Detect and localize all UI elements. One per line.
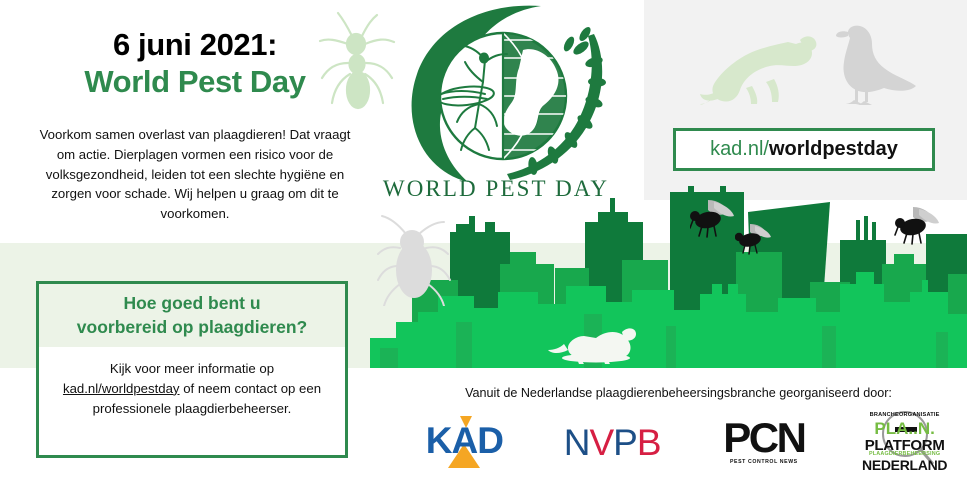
platform-plan-label: PLA..N. — [857, 419, 953, 439]
kad-wordmark: KAD — [404, 420, 524, 462]
partner-logos: KAD NVPB PCN PEST CONTROL NEWS BRANCHEOR… — [390, 408, 967, 478]
fly-icon — [893, 205, 941, 247]
nvpb-letter-p: P — [613, 422, 637, 463]
url-domain: kad.nl/ — [710, 138, 769, 161]
partner-logo-kad[interactable]: KAD — [404, 408, 524, 478]
callout-heading-line1: Hoe goed bent u — [77, 292, 307, 316]
callout-link[interactable]: kad.nl/worldpestday — [63, 381, 180, 396]
platform-branch-label: BRANCHEORGANISATIE — [857, 412, 953, 418]
fly-icon — [735, 222, 773, 256]
nvpb-letter-v: V — [589, 422, 613, 463]
nvpb-letter-n: N — [564, 422, 590, 463]
partners-label: Vanuit de Nederlandse plaagdierenbeheers… — [390, 386, 967, 400]
poster-canvas: 6 juni 2021: World Pest Day Voorkom same… — [0, 0, 967, 483]
url-box[interactable]: kad.nl/worldpestday — [673, 128, 935, 171]
callout-heading-line2: voorbereid op plaagdieren? — [77, 316, 307, 340]
partner-logo-nvpb[interactable]: NVPB — [553, 408, 671, 478]
callout-text-before: Kijk voor meer informatie op — [110, 361, 274, 376]
pigeon-icon — [826, 24, 918, 109]
nvpb-letter-b: B — [637, 422, 661, 463]
cockroach-icon — [374, 214, 452, 306]
callout-box: Hoe goed bent u voorbereid op plaagdiere… — [36, 281, 348, 458]
headline-title: World Pest Day — [30, 65, 360, 100]
fly-icon — [690, 198, 736, 240]
headline-block: 6 juni 2021: World Pest Day — [30, 28, 360, 99]
partner-logo-platform-nederland[interactable]: BRANCHEORGANISATIE PLA..N. PLATFORM PLAA… — [857, 408, 953, 478]
callout-heading: Hoe goed bent u voorbereid op plaagdiere… — [39, 284, 345, 347]
rat-icon — [700, 24, 820, 109]
intro-paragraph: Voorkom samen overlast van plaagdieren! … — [30, 125, 360, 224]
platform-nederland-word: NEDERLAND — [857, 457, 953, 473]
city-skyline-illustration — [370, 186, 967, 372]
partner-logo-pcn[interactable]: PCN PEST CONTROL NEWS — [700, 408, 828, 478]
headline-date: 6 juni 2021: — [30, 28, 360, 63]
pcn-wordmark: PCN — [700, 414, 828, 462]
callout-body: Kijk voor meer informatie op kad.nl/worl… — [39, 347, 345, 418]
pcn-tagline: PEST CONTROL NEWS — [700, 459, 828, 465]
url-path: worldpestday — [769, 138, 898, 161]
